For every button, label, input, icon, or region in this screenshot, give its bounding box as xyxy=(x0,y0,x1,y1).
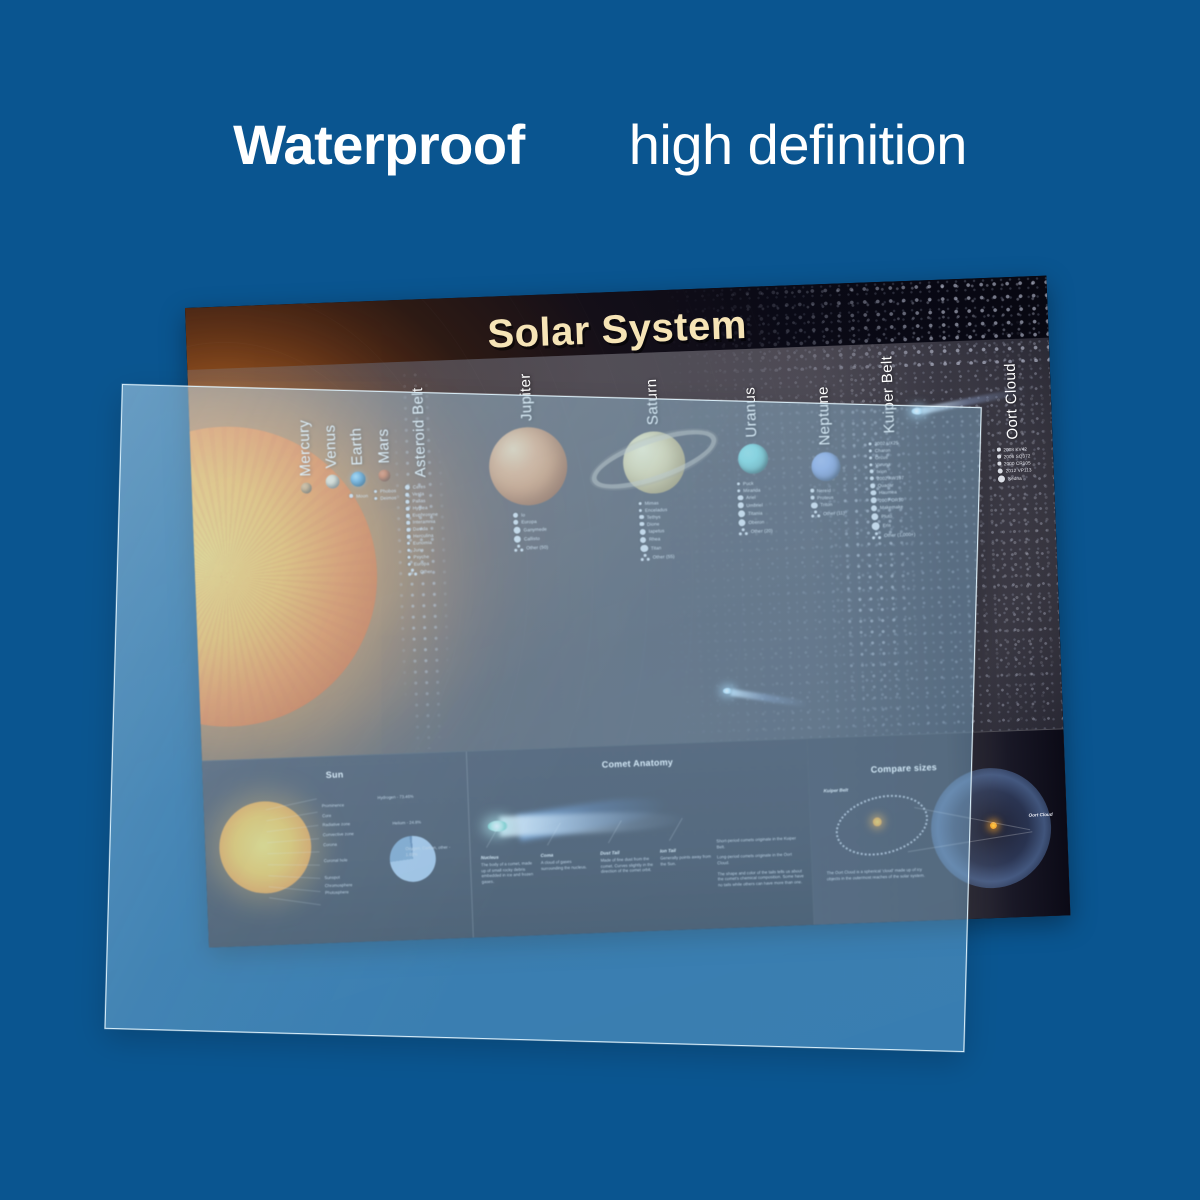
satellite-dot xyxy=(998,475,1005,482)
product-marketing-image: Waterproof high definition Solar System … xyxy=(0,0,1200,1200)
overlay-sheen xyxy=(106,385,981,1051)
satellite-item: 2012 VP113 xyxy=(998,467,1032,473)
satellite-list-oort-cloud: 2008 KV422006 SQ3722000 CR1052012 VP113S… xyxy=(997,446,1032,482)
headline-waterproof: Waterproof xyxy=(233,112,525,177)
satellite-item: 2006 SQ372 xyxy=(997,453,1030,459)
body-column-oort-cloud: Oort Cloud2008 KV422006 SQ3722000 CR1052… xyxy=(994,362,1032,482)
satellite-item: 2008 KV42 xyxy=(997,446,1027,452)
waterproof-laminate-overlay xyxy=(105,384,982,1052)
satellite-dot xyxy=(997,455,1001,459)
headline: Waterproof high definition xyxy=(0,112,1200,177)
satellite-dot xyxy=(997,448,1001,452)
satellite-dot xyxy=(998,468,1003,473)
satellite-name: 2006 SQ372 xyxy=(1004,453,1031,459)
body-label-oort-cloud: Oort Cloud xyxy=(1002,363,1022,440)
satellite-dot xyxy=(997,462,1001,466)
satellite-name: 2000 CR105 xyxy=(1004,460,1031,466)
satellite-item: 2000 CR105 xyxy=(997,460,1030,466)
headline-high-definition: high definition xyxy=(629,112,967,177)
satellite-name: Sedna xyxy=(1008,475,1022,481)
satellite-name: 2012 VP113 xyxy=(1006,467,1032,473)
compare-oort-label: Oort Cloud xyxy=(1029,812,1053,818)
satellite-name: 2008 KV42 xyxy=(1003,446,1027,452)
satellite-item: Sedna xyxy=(998,474,1022,482)
